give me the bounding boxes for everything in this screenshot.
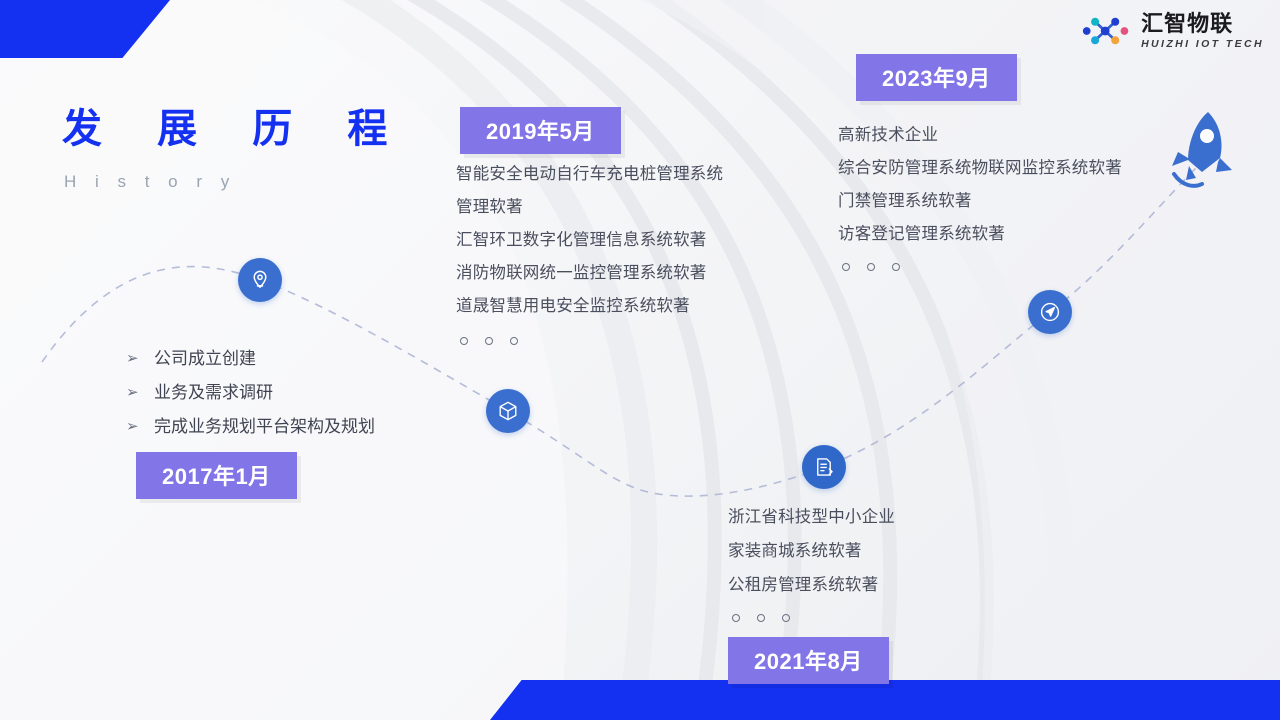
- page-subtitle: H i s t o r y: [64, 172, 236, 192]
- logo-english-name: HUIZHI IOT TECH: [1141, 39, 1264, 50]
- ellipsis-dots: [838, 263, 1122, 271]
- ellipsis-dots: [456, 337, 723, 345]
- list-item: ➢ 业务及需求调研: [126, 376, 375, 410]
- list-item: 浙江省科技型中小企业: [728, 500, 895, 534]
- date-badge-2021[interactable]: 2021年8月: [728, 637, 889, 684]
- list-item: ➢ 公司成立创建: [126, 342, 375, 376]
- date-badge-2023[interactable]: 2023年9月: [856, 54, 1017, 101]
- location-pin-icon: [249, 269, 271, 291]
- company-logo: 汇智物联 HUIZHI IOT TECH: [1080, 11, 1264, 51]
- document-edit-icon: [813, 456, 835, 478]
- list-item: 道晟智慧用电安全监控系统软著: [456, 290, 723, 323]
- list-item-label: 业务及需求调研: [154, 376, 273, 410]
- milestone-node-2021[interactable]: [802, 445, 846, 489]
- list-item: 访客登记管理系统软著: [838, 218, 1122, 251]
- date-badge-2019[interactable]: 2019年5月: [460, 107, 621, 154]
- milestone-node-2019[interactable]: [486, 389, 530, 433]
- list-item: 高新技术企业: [838, 119, 1122, 152]
- list-item: 公租房管理系统软著: [728, 568, 895, 602]
- logo-chinese-name: 汇智物联: [1141, 13, 1264, 35]
- milestone-2023-text: 高新技术企业 综合安防管理系统物联网监控系统软著 门禁管理系统软著 访客登记管理…: [838, 119, 1122, 271]
- list-item: 管理软著: [456, 191, 723, 224]
- milestone-2021-text: 浙江省科技型中小企业 家装商城系统软著 公租房管理系统软著: [728, 500, 895, 622]
- bullet-arrow-icon: ➢: [126, 342, 138, 376]
- list-item: 门禁管理系统软著: [838, 185, 1122, 218]
- milestone-node-2023[interactable]: [1028, 290, 1072, 334]
- page-title: 发 展 历 程: [62, 96, 409, 154]
- molecule-network-icon: [1080, 11, 1132, 51]
- list-item: 汇智环卫数字化管理信息系统软著: [456, 224, 723, 257]
- list-item: 消防物联网统一监控管理系统软著: [456, 257, 723, 290]
- milestone-2019-text: 智能安全电动自行车充电桩管理系统 管理软著 汇智环卫数字化管理信息系统软著 消防…: [456, 158, 723, 345]
- paper-plane-icon: [1038, 300, 1062, 324]
- milestone-node-2017[interactable]: [238, 258, 282, 302]
- date-badge-2017[interactable]: 2017年1月: [136, 452, 297, 499]
- ellipsis-dots: [728, 614, 895, 622]
- list-item-label: 完成业务规划平台架构及规划: [154, 410, 375, 444]
- rocket-icon: [1162, 108, 1236, 198]
- milestone-2017-bullets: ➢ 公司成立创建 ➢ 业务及需求调研 ➢ 完成业务规划平台架构及规划: [126, 342, 375, 444]
- bullet-arrow-icon: ➢: [126, 410, 138, 444]
- list-item: 家装商城系统软著: [728, 534, 895, 568]
- bullet-arrow-icon: ➢: [126, 376, 138, 410]
- list-item-label: 公司成立创建: [154, 342, 256, 376]
- list-item: 智能安全电动自行车充电桩管理系统: [456, 158, 723, 191]
- bottom-right-corner-shape: [490, 680, 1280, 720]
- list-item: 综合安防管理系统物联网监控系统软著: [838, 152, 1122, 185]
- list-item: ➢ 完成业务规划平台架构及规划: [126, 410, 375, 444]
- slide-canvas: 汇智物联 HUIZHI IOT TECH 发 展 历 程 H i s t o r…: [0, 0, 1280, 720]
- cube-box-icon: [497, 400, 519, 422]
